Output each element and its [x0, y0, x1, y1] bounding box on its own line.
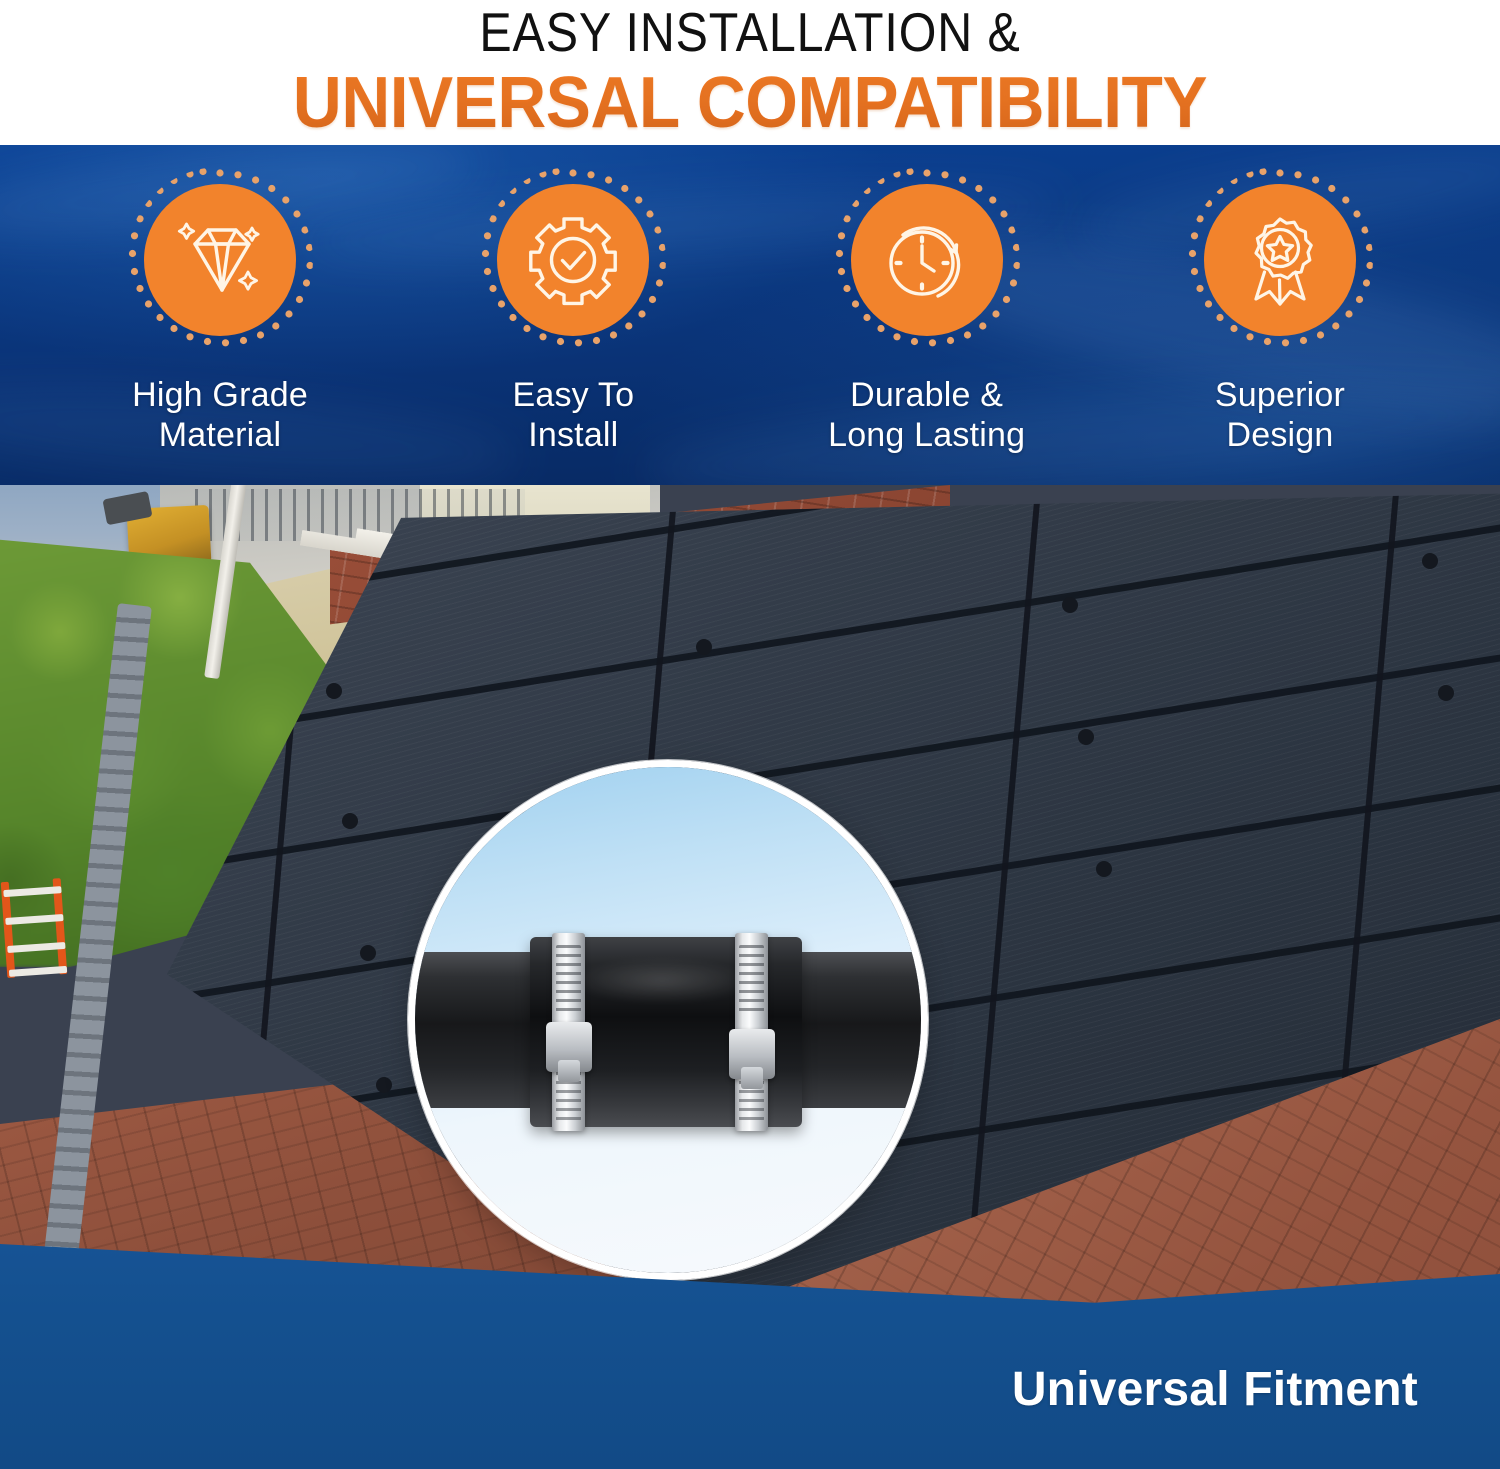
- feature-item-durable-long-lasting: Durable & Long Lasting: [777, 167, 1077, 455]
- award-ribbon-icon: [1234, 214, 1326, 306]
- feature-label: High Grade Material: [70, 375, 370, 455]
- gear-check-icon: [526, 213, 620, 307]
- badge-circle: [144, 184, 296, 336]
- rubber-coupling: [530, 937, 802, 1127]
- coupling-closeup-inset: [408, 760, 928, 1280]
- feature-label: Superior Design: [1130, 375, 1430, 455]
- feature-label: Durable & Long Lasting: [777, 375, 1077, 455]
- feature-item-high-grade-material: High Grade Material: [70, 167, 370, 455]
- bottom-banner-label: Universal Fitment: [1012, 1362, 1418, 1417]
- feature-list: High Grade Material: [0, 145, 1500, 485]
- feature-badge: [480, 167, 666, 353]
- clamp-screw-left: [546, 1022, 592, 1072]
- feature-label: Easy To Install: [423, 375, 723, 455]
- coupling-highlight: [572, 959, 752, 1003]
- clamp-screw-right: [729, 1029, 775, 1079]
- feature-item-superior-design: Superior Design: [1130, 167, 1430, 455]
- feature-badge: [127, 167, 313, 353]
- feature-badge: [834, 167, 1020, 353]
- badge-circle: [497, 184, 649, 336]
- headline-line-1: EASY INSTALLATION &: [90, 0, 1410, 61]
- header-banner: EASY INSTALLATION & UNIVERSAL COMPATIBIL…: [0, 0, 1500, 145]
- clock-arrow-icon: [880, 213, 974, 307]
- pipe-right: [795, 952, 928, 1108]
- feature-band: High Grade Material: [0, 145, 1500, 485]
- feature-item-easy-to-install: Easy To Install: [423, 167, 723, 455]
- feature-badge: [1187, 167, 1373, 353]
- badge-circle: [851, 184, 1003, 336]
- badge-circle: [1204, 184, 1356, 336]
- headline-line-2: UNIVERSAL COMPATIBILITY: [45, 65, 1455, 141]
- orange-ladder: [0, 878, 71, 978]
- diamond-icon: [174, 214, 266, 306]
